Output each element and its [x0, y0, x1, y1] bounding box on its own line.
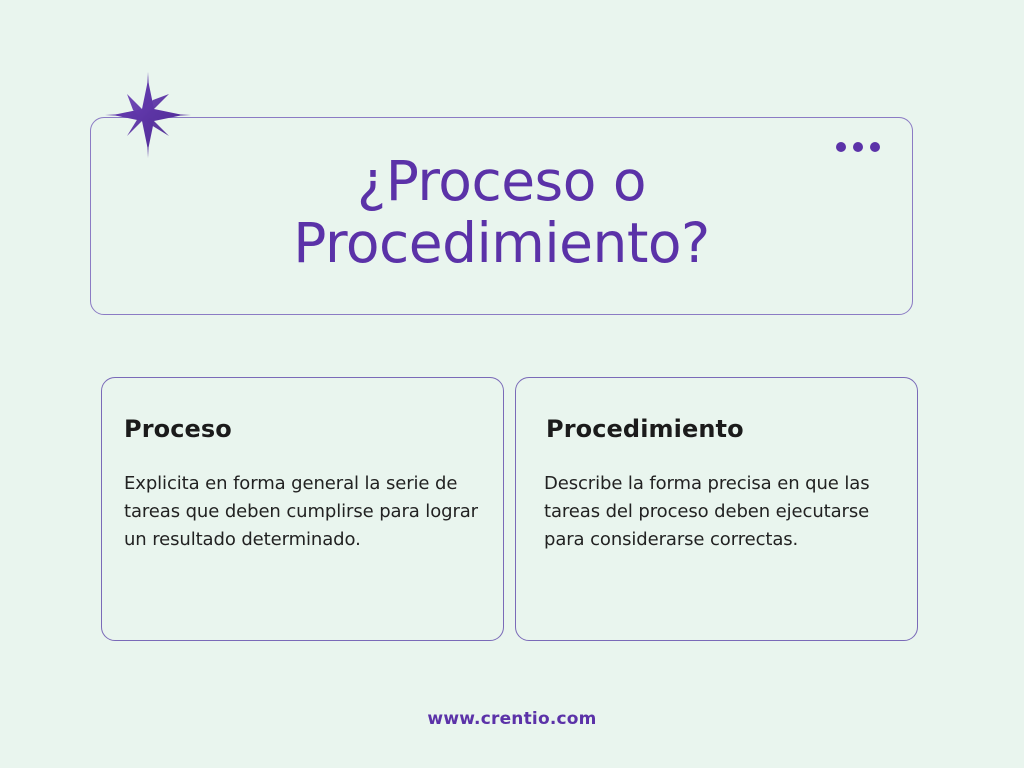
card-body: Describe la forma precisa en que las tar… [544, 470, 895, 554]
card-body: Explicita en forma general la serie de t… [124, 470, 481, 554]
concept-card-procedimiento[interactable]: Procedimiento Describe la forma precisa … [515, 377, 918, 641]
slide-canvas: ¿Proceso o Procedimiento? Proceso Explic… [0, 0, 1024, 768]
page-title: ¿Proceso o Procedimiento? [91, 150, 912, 274]
concept-card-list: Proceso Explicita en forma general la se… [101, 377, 918, 641]
card-title: Procedimiento [546, 414, 895, 444]
concept-card-proceso[interactable]: Proceso Explicita en forma general la se… [101, 377, 504, 641]
footer-website-link[interactable]: www.crentio.com [0, 709, 1024, 729]
hero-title-box: ¿Proceso o Procedimiento? [90, 117, 913, 315]
card-title: Proceso [124, 414, 481, 444]
